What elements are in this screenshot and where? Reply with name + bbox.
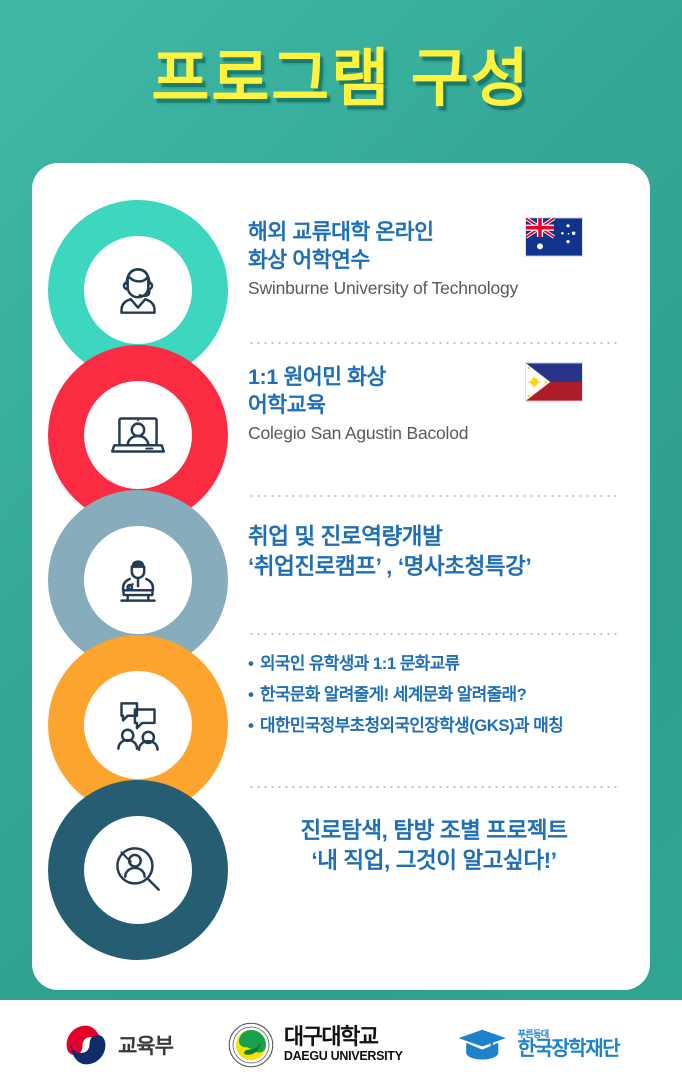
divider-3 [248,633,620,635]
footer-logos: 교육부 대구대학교 DAEGU UNIVERSITY 푸른등대 한국장학재단 [0,1000,682,1090]
magnifier-person-icon [105,837,171,903]
kosaf-label-ko: 한국장학재단 [518,1039,619,1060]
australia-flag [525,217,583,257]
list-item: 외국인 유학생과 1:1 문화교류 [248,652,620,676]
program-bullet-list-4: 외국인 유학생과 1:1 문화교류 한국문화 알려줄게! 세계문화 알려줄래? … [248,652,620,738]
program-heading-5: 진로탐색, 탐방 조별 프로젝트 ‘내 직업, 그것이 알고싶다!’ [248,816,620,875]
program-ring-5 [48,780,228,960]
divider-1 [248,342,620,344]
daegu-university-label-ko: 대구대학교 [284,1026,403,1048]
list-item: 대한민국정부초청외국인장학생(GKS)과 매칭 [248,714,620,738]
program-row-1: 해외 교류대학 온라인 화상 어학연수 Swinburne University… [248,218,620,300]
philippines-flag-icon [526,363,582,401]
program-heading-3: 취업 및 진로역량개발 ‘취업진로캠프’ , ‘명사초청특강’ [248,522,620,581]
moe-logo: 교육부 [63,1022,173,1068]
program-heading-5-line1: 진로탐색, 탐방 조별 프로젝트 [248,816,620,846]
daegu-seal-icon [227,1021,275,1069]
australia-flag-icon [526,218,582,256]
speech-bubbles-people-icon [105,692,171,758]
ring-icon-holder-2 [84,381,192,489]
graduation-cap-icon [457,1025,509,1065]
daegu-university-logo: 대구대학교 DAEGU UNIVERSITY [227,1021,403,1069]
ring-icon-holder-3 [84,526,192,634]
kosaf-logo: 푸른등대 한국장학재단 [457,1025,619,1065]
ring-icon-holder-5 [84,816,192,924]
taegeuk-icon [63,1022,109,1068]
divider-4 [248,786,620,788]
headset-woman-icon [105,257,171,323]
program-subtitle-1: Swinburne University of Technology [248,277,620,301]
program-row-3: 취업 및 진로역량개발 ‘취업진로캠프’ , ‘명사초청특강’ [248,522,620,581]
program-icon-chain [48,200,228,960]
daegu-university-label-en: DAEGU UNIVERSITY [284,1048,403,1064]
list-item: 한국문화 알려줄게! 세계문화 알려줄래? [248,683,620,707]
program-row-5: 진로탐색, 탐방 조별 프로젝트 ‘내 직업, 그것이 알고싶다!’ [248,816,620,875]
philippines-flag [525,362,583,402]
poster-title-area: 프로그램 구성 [0,48,682,111]
program-row-2: 1:1 원어민 화상 어학교육 Colegio San Agustin Baco… [248,363,620,445]
page-title: 프로그램 구성 [0,48,682,111]
program-row-4: 외국인 유학생과 1:1 문화교류 한국문화 알려줄게! 세계문화 알려줄래? … [248,652,620,745]
laptop-person-icon [105,402,171,468]
program-subtitle-2: Colegio San Agustin Bacolod [248,422,620,446]
program-heading-5-line2: ‘내 직업, 그것이 알고싶다!’ [248,846,620,876]
ring-icon-holder-4 [84,671,192,779]
program-heading-3-line1: 취업 및 진로역량개발 [248,522,620,552]
moe-label: 교육부 [118,1030,173,1060]
ring-icon-holder-1 [84,236,192,344]
divider-2 [248,495,620,497]
program-heading-3-line2: ‘취업진로캠프’ , ‘명사초청특강’ [248,552,620,582]
podium-speaker-icon [105,547,171,613]
